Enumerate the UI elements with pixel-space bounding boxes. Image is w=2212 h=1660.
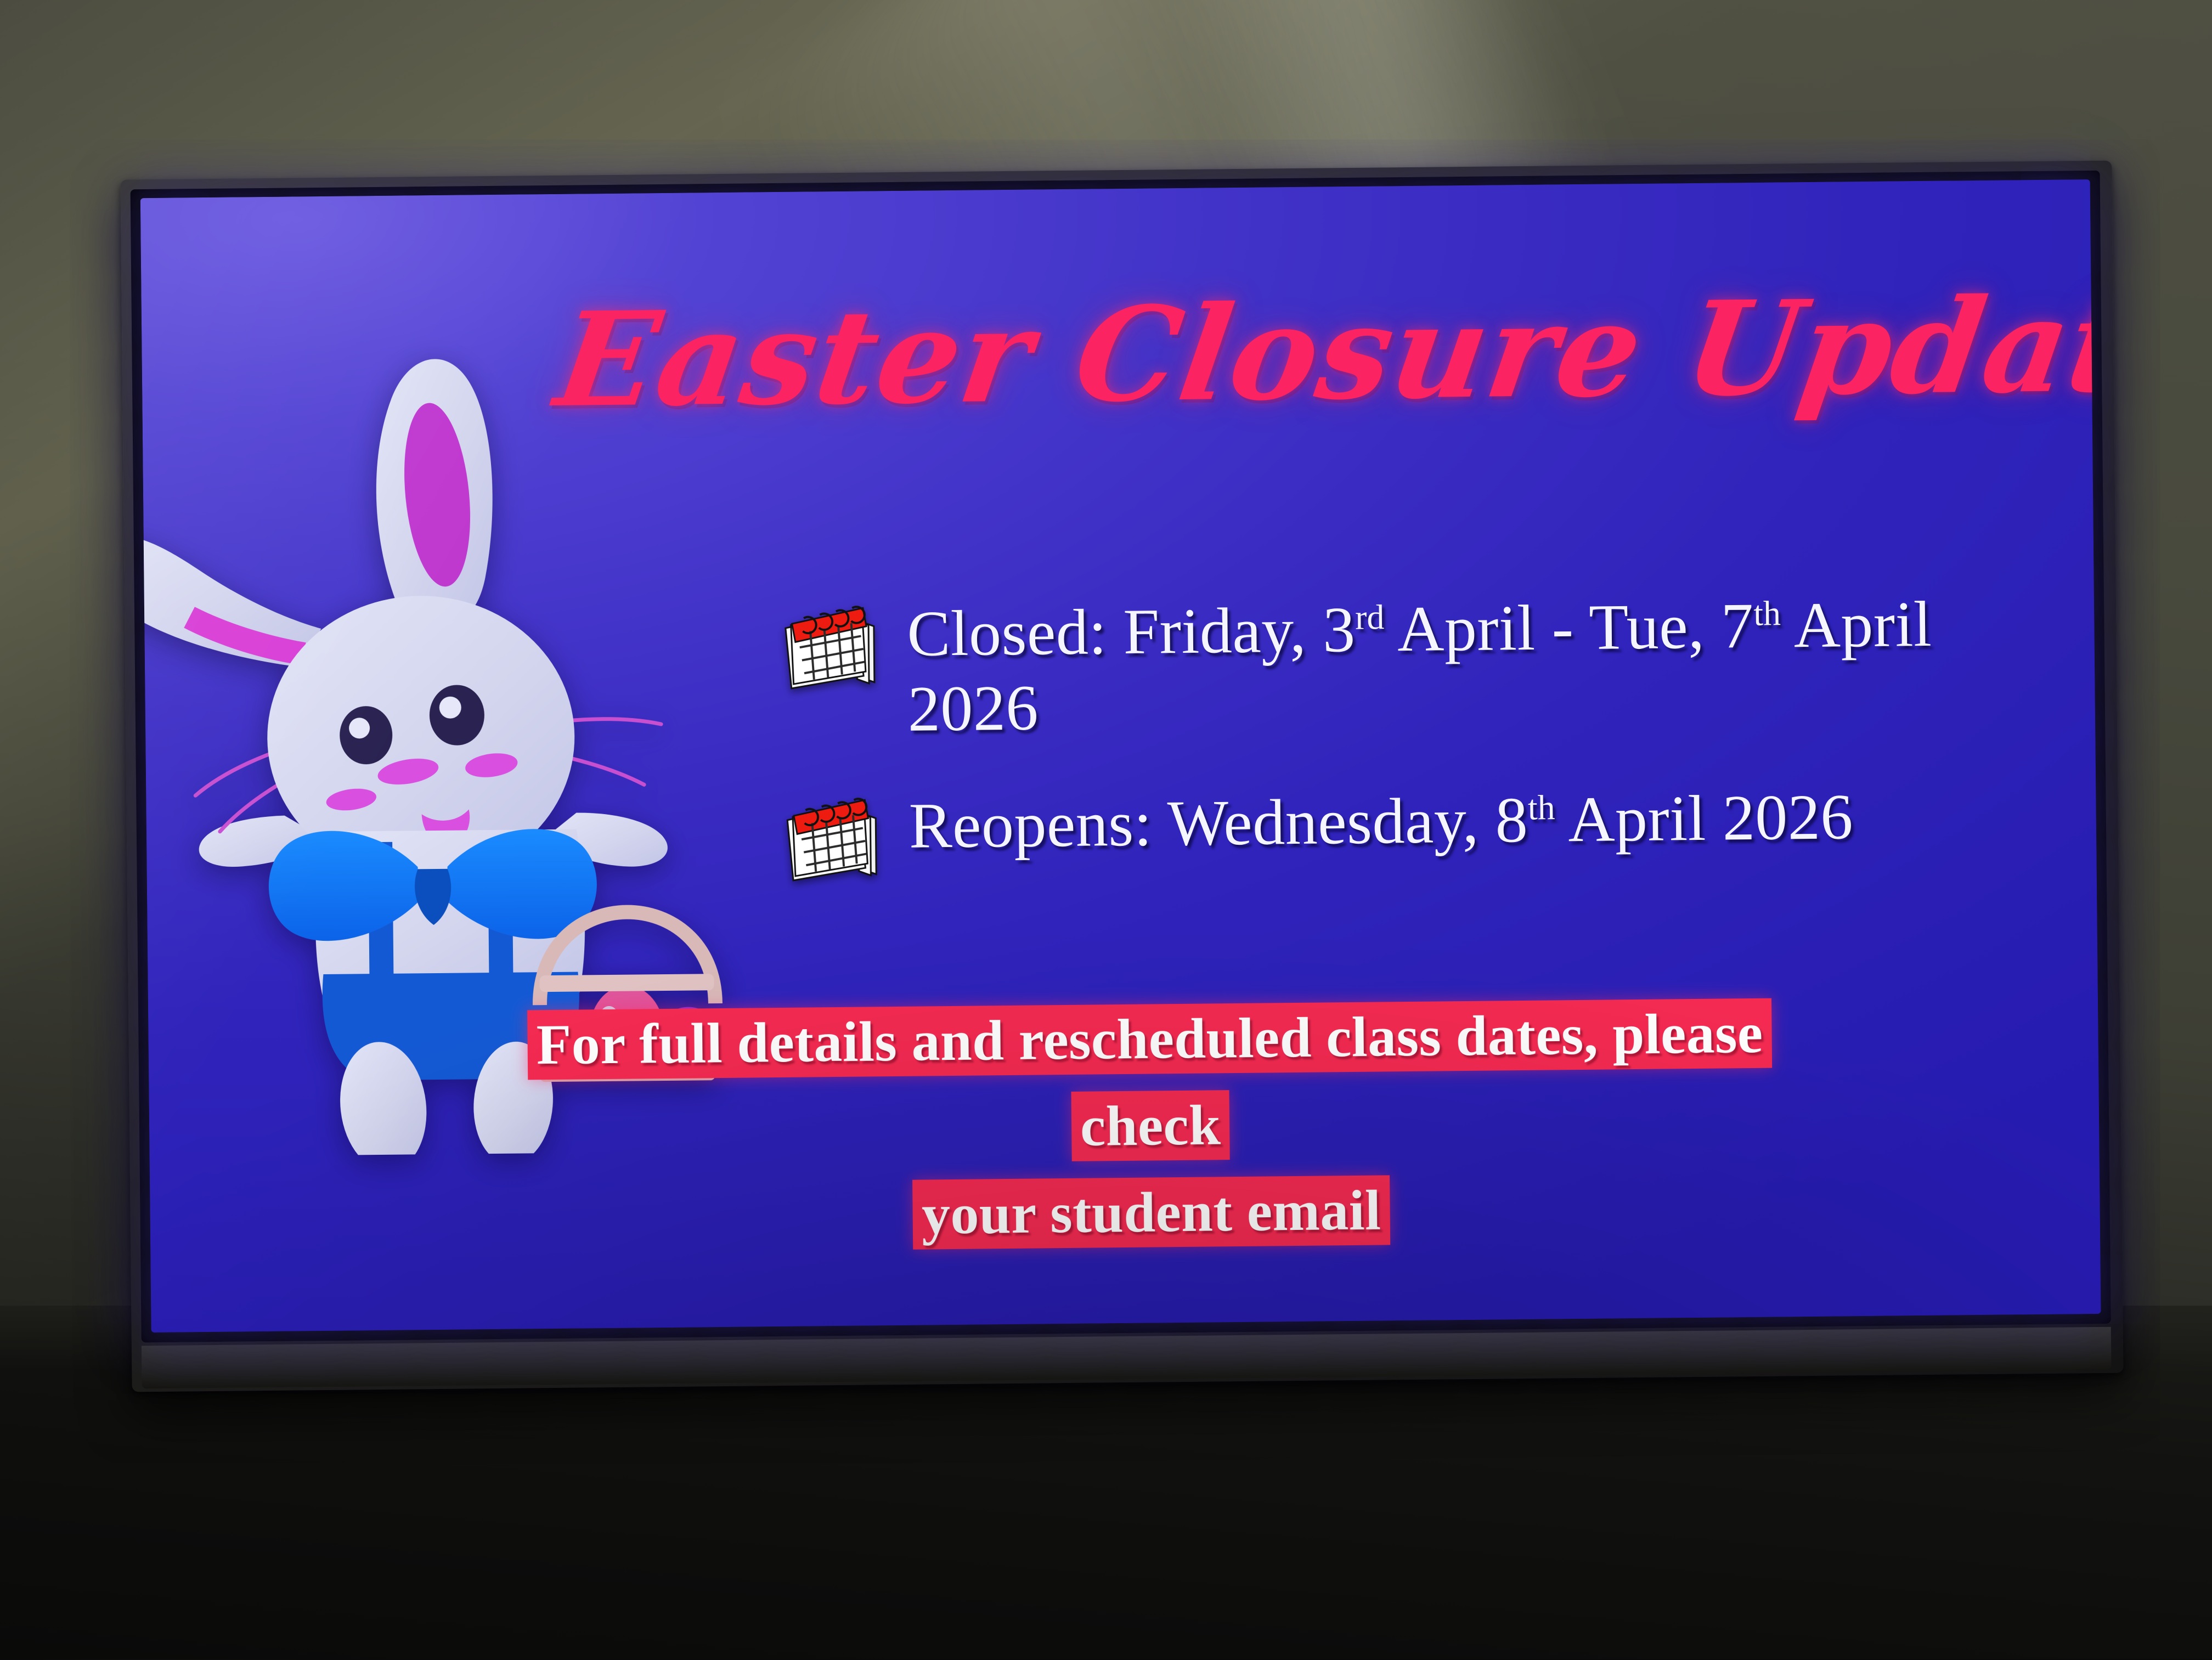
bunny-ear-right	[375, 358, 493, 624]
presentation-slide: Easter Closure Update	[140, 179, 2101, 1332]
calendar-icon	[781, 602, 879, 692]
reopen-date-row: Reopens: Wednesday, 8th April 2026	[782, 778, 2045, 884]
television: Easter Closure Update	[120, 161, 2123, 1392]
reopen-date-text: Reopens: Wednesday, 8th April 2026	[909, 778, 2045, 864]
student-email-callout: For full details and rescheduled class d…	[455, 989, 1846, 1262]
calendar-icon	[782, 794, 881, 884]
callout-line-2: your student email	[912, 1176, 1390, 1250]
basket-rim	[539, 974, 714, 992]
slide-title: Easter Closure Update	[549, 281, 1864, 426]
bunny-ear-left	[140, 535, 321, 669]
calendar-icon-wrapper	[781, 597, 908, 692]
calendar-icon-wrapper-2	[782, 789, 910, 884]
tv-screen: Easter Closure Update	[140, 179, 2101, 1332]
closure-dates-row: Closed: Friday, 3rd April - Tue, 7th Apr…	[781, 586, 2044, 748]
room-wall: Easter Closure Update	[0, 0, 2212, 1659]
callout-line-1: For full details and rescheduled class d…	[527, 998, 1772, 1161]
closure-dates-text: Closed: Friday, 3rd April - Tue, 7th Apr…	[907, 586, 2044, 747]
